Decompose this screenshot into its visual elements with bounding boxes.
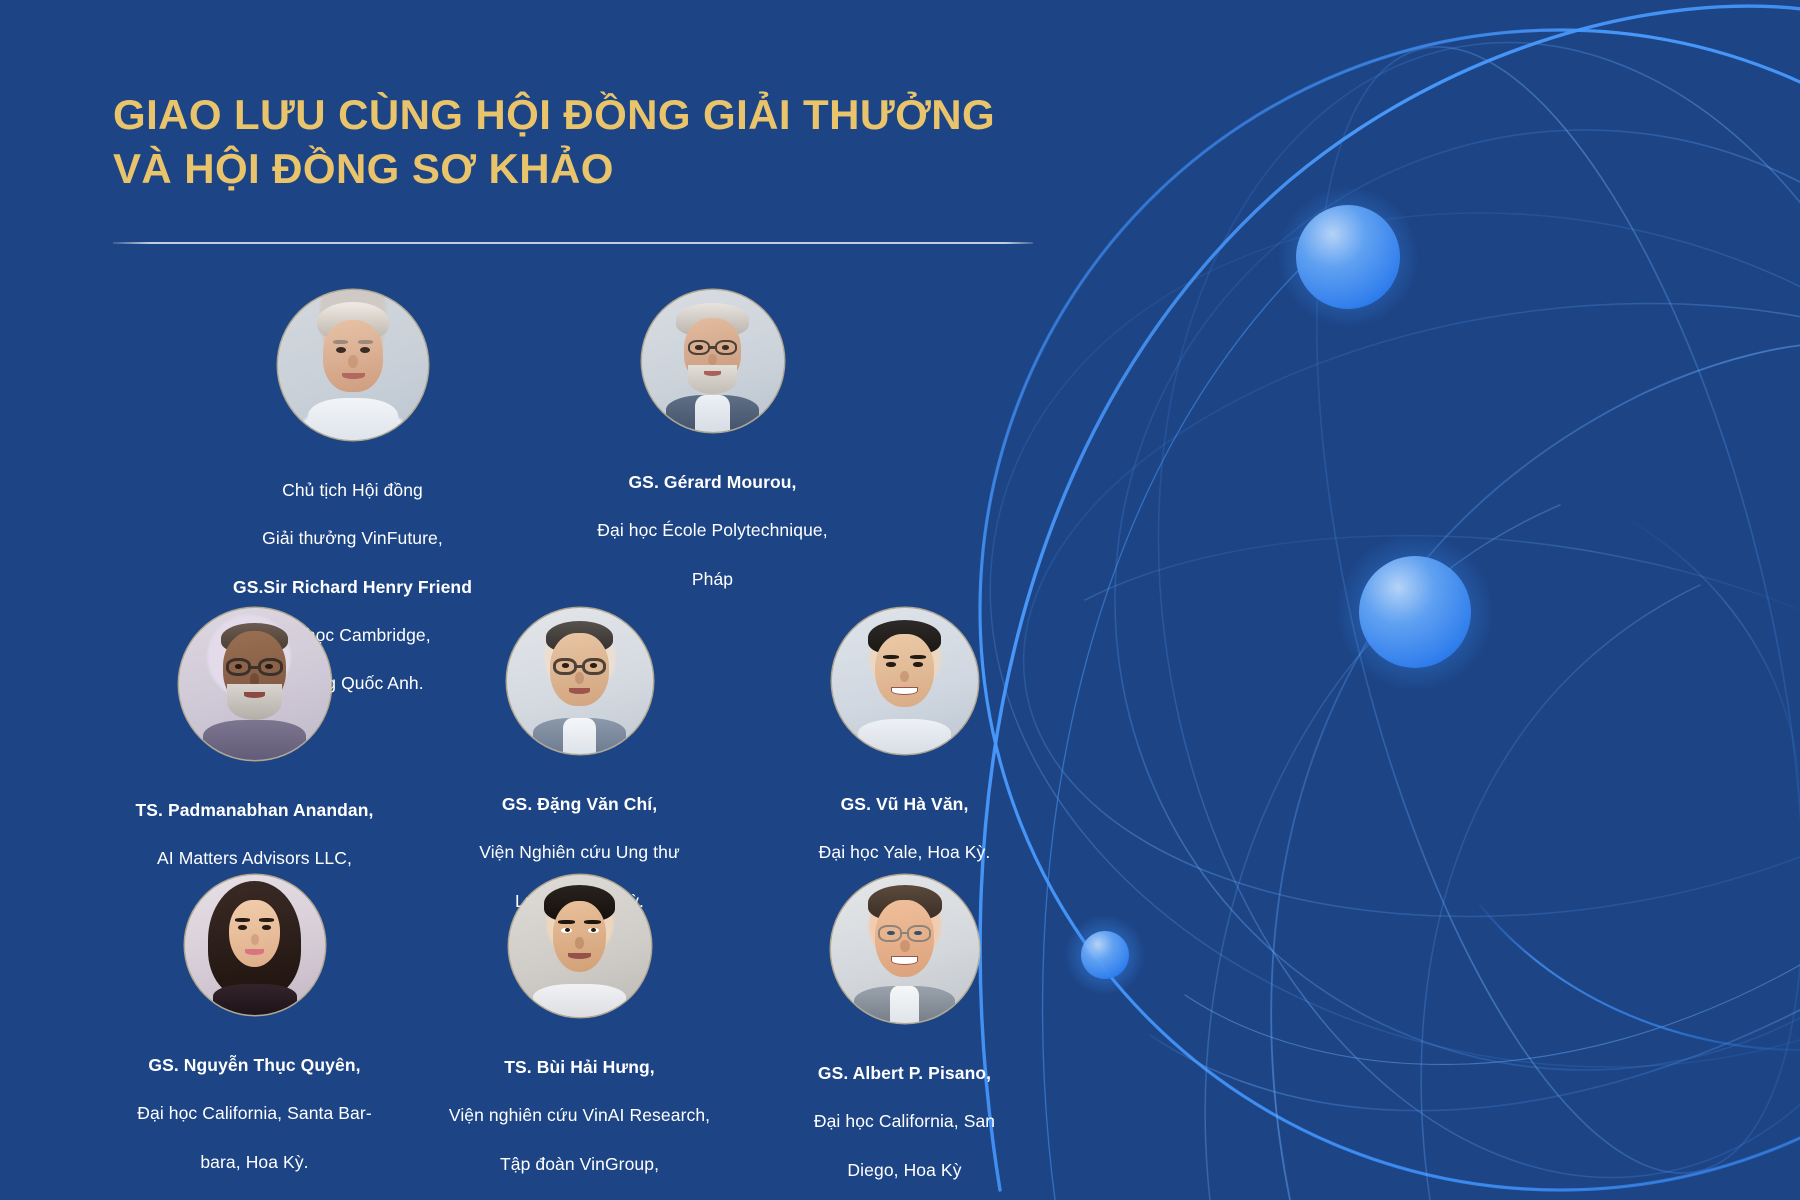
- caption-line-name: GS.Sir Richard Henry Friend: [233, 577, 472, 597]
- avatar: [507, 608, 653, 754]
- title-divider: [113, 242, 1033, 244]
- portrait-richard-henry-friend: [278, 290, 428, 440]
- portrait-vu-ha-van: [832, 608, 978, 754]
- caption-line-name: GS. Đặng Văn Chí,: [502, 794, 657, 814]
- avatar: [185, 875, 325, 1015]
- person-caption: GS. Nguyễn Thục Quyên, Đại học Californi…: [137, 1029, 372, 1174]
- person-card: TS. Padmanabhan Anandan, AI Matters Advi…: [112, 608, 397, 919]
- caption-line: Đại học École Polytechnique,: [597, 520, 827, 540]
- portrait-albert-p-pisano: [831, 875, 979, 1023]
- person-card: GS. Vũ Hà Văn, Đại học Yale, Hoa Kỳ.: [762, 608, 1047, 865]
- person-caption: GS. Vũ Hà Văn, Đại học Yale, Hoa Kỳ.: [819, 768, 991, 865]
- caption-line: Viện nghiên cứu VinAI Research,: [449, 1105, 710, 1125]
- portrait-dang-van-chi: [507, 608, 653, 754]
- person-card: GS. Đặng Văn Chí, Viện Nghiên cứu Ung th…: [437, 608, 722, 913]
- caption-line-name: TS. Padmanabhan Anandan,: [135, 800, 373, 820]
- caption-line-name: GS. Nguyễn Thục Quyên,: [148, 1055, 360, 1075]
- caption-line-name: GS. Gérard Mourou,: [628, 472, 796, 492]
- portrait-padmanabhan-anandan: [179, 608, 331, 760]
- caption-line: bara, Hoa Kỳ.: [200, 1152, 308, 1172]
- caption-line: Pháp: [692, 569, 733, 589]
- title-line-1: GIAO LƯU CÙNG HỘI ĐỒNG GIẢI THƯỞNG: [113, 88, 1033, 142]
- page-title: GIAO LƯU CÙNG HỘI ĐỒNG GIẢI THƯỞNG VÀ HỘ…: [113, 88, 1033, 196]
- person-caption: GS. Albert P. Pisano, Đại học California…: [814, 1037, 995, 1182]
- caption-line: Đại học Yale, Hoa Kỳ.: [819, 842, 991, 862]
- caption-line-name: GS. Vũ Hà Văn,: [841, 794, 969, 814]
- portrait-gerard-mourou: [642, 290, 784, 432]
- avatar: [278, 290, 428, 440]
- caption-line-name: GS. Albert P. Pisano,: [818, 1063, 991, 1083]
- caption-line: Tập đoàn VinGroup,: [500, 1154, 659, 1174]
- title-line-2: VÀ HỘI ĐỒNG SƠ KHẢO: [113, 142, 1033, 196]
- caption-line: AI Matters Advisors LLC,: [157, 848, 352, 868]
- caption-line-name: TS. Bùi Hải Hưng,: [504, 1057, 654, 1077]
- caption-line: Diego, Hoa Kỳ: [847, 1160, 961, 1180]
- council-row-3: GS. Nguyễn Thục Quyên, Đại học Californi…: [112, 875, 1047, 1200]
- person-card: GS. Nguyễn Thục Quyên, Đại học Californi…: [112, 875, 397, 1174]
- portrait-nguyen-thuc-quyen: [185, 875, 325, 1015]
- avatar: [179, 608, 331, 760]
- avatar: [509, 875, 651, 1017]
- caption-line: Viện Nghiên cứu Ung thư: [479, 842, 680, 862]
- caption-line: Giải thưởng VinFuture,: [262, 528, 443, 548]
- person-caption: TS. Bùi Hải Hưng, Viện nghiên cứu VinAI …: [449, 1031, 710, 1200]
- council-row-2: TS. Padmanabhan Anandan, AI Matters Advi…: [112, 608, 1047, 919]
- caption-line: Chủ tịch Hội đồng: [282, 480, 423, 500]
- caption-line: Đại học California, Santa Bar-: [137, 1103, 372, 1123]
- person-card: TS. Bùi Hải Hưng, Viện nghiên cứu VinAI …: [437, 875, 722, 1200]
- caption-line: Đại học California, San: [814, 1111, 995, 1131]
- person-card: GS. Gérard Mourou, Đại học École Polytec…: [585, 290, 840, 591]
- person-card: GS. Albert P. Pisano, Đại học California…: [762, 875, 1047, 1182]
- avatar: [832, 608, 978, 754]
- portrait-bui-hai-hung: [509, 875, 651, 1017]
- avatar: [831, 875, 979, 1023]
- avatar: [642, 290, 784, 432]
- person-caption: GS. Gérard Mourou, Đại học École Polytec…: [597, 446, 827, 591]
